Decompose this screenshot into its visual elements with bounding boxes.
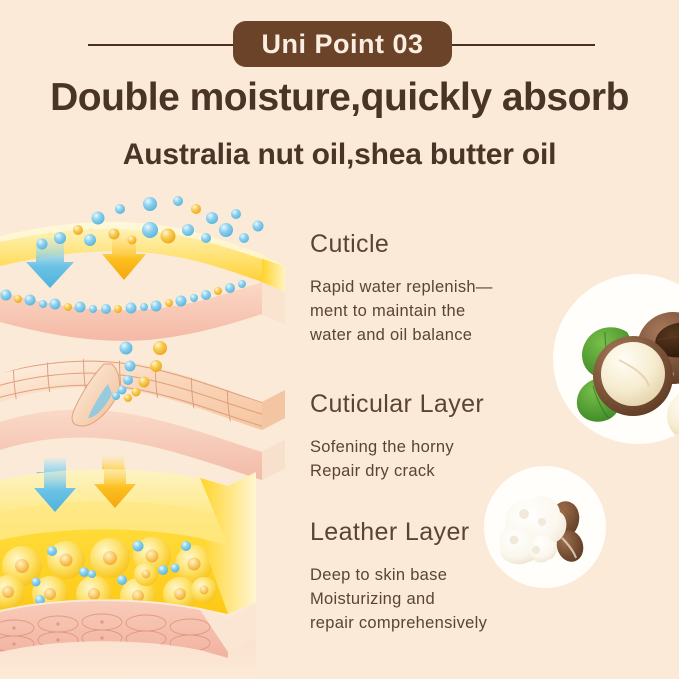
shea-butter-photo [484,466,606,588]
section-heading-cuticular-layer: Cuticular Layer [310,390,484,419]
nut-kernel-secondary [667,390,679,442]
dermis-slab [0,282,285,341]
section-body-cuticular-layer: Sofening the horny Repair dry crack [310,435,484,483]
page-subtitle: Australia nut oil,shea butter oil [0,138,679,172]
section-cuticular-layer: Cuticular Layer Sofening the horny Repai… [310,390,484,483]
page-title: Double moisture,quickly absorb [0,76,679,120]
nut-kernel-in-shell [593,336,673,416]
section-heading-leather-layer: Leather Layer [310,518,487,547]
uni-point-badge: Uni Point 03 [233,21,452,67]
shea-butter-illustration [484,466,606,588]
cuticular-layer-grid-diagram [0,336,300,482]
header-badge-row: Uni Point 03 [0,22,679,68]
infographic-canvas: Uni Point 03 Double moisture,quickly abs… [0,0,679,679]
section-heading-cuticle: Cuticle [310,230,493,259]
section-body-cuticle: Rapid water replenish— ment to maintain … [310,275,493,347]
dermis-layer-cells-diagram [0,462,300,679]
header-rule-left [88,44,233,46]
section-cuticle: Cuticle Rapid water replenish— ment to m… [310,230,493,347]
section-leather-layer: Leather Layer Deep to skin base Moisturi… [310,518,487,635]
butter-chunk-group [499,496,566,564]
header-rule-right [452,44,595,46]
section-body-leather-layer: Deep to skin base Moisturizing and repai… [310,563,487,635]
skin-surface-diagram [0,196,300,346]
macadamia-nut-illustration [553,274,679,444]
uni-point-badge-label: Uni Point 03 [261,31,423,58]
macadamia-nut-photo [553,274,679,444]
